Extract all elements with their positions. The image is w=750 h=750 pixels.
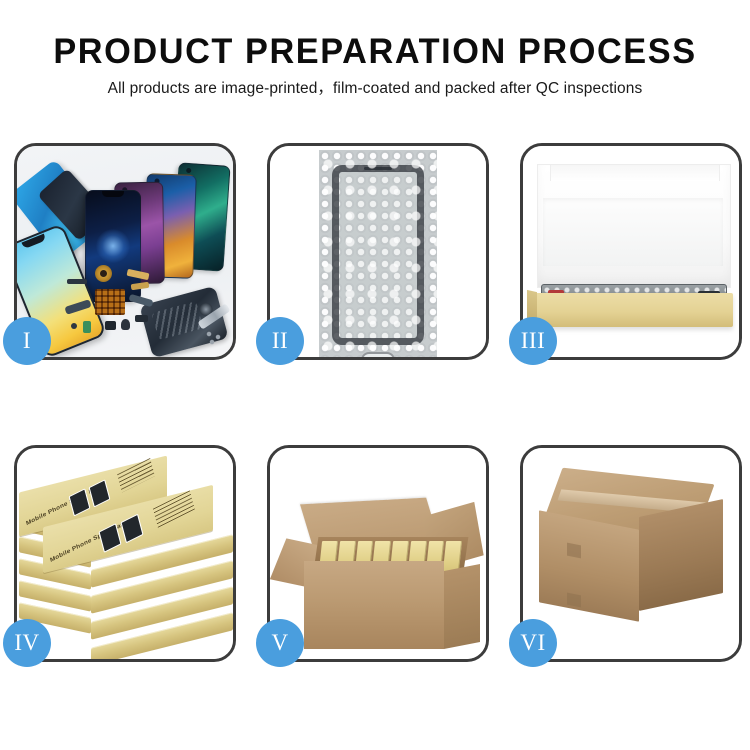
sealed-carton-right-icon — [639, 499, 723, 611]
step-panel-1: I — [14, 143, 236, 360]
screws-icon — [206, 331, 224, 345]
foam-pad-icon — [543, 198, 723, 266]
sealed-carton-front-icon — [539, 510, 639, 621]
step-panel-4: Mobile Phone Spare Parts Mobile Phone Sp… — [14, 445, 236, 662]
box-phone-graphic-4 — [120, 514, 143, 544]
box-stack: Mobile Phone Spare Parts Mobile Phone Sp… — [17, 448, 233, 659]
step-badge-1: I — [3, 317, 51, 365]
process-steps-grid: I II III — [14, 143, 740, 662]
step-badge-5: V — [256, 619, 304, 667]
step-panel-2: II — [267, 143, 489, 360]
step-1-image — [17, 146, 233, 357]
step-3-image — [523, 146, 739, 357]
bubble-wrap-sheet-icon — [319, 150, 437, 357]
box-phone-graphic-2 — [89, 479, 111, 507]
part-coil-icon — [95, 265, 112, 282]
page-subtitle: All products are image-printed，film-coat… — [0, 81, 750, 97]
step-badge-3: III — [509, 317, 557, 365]
step-2-image — [270, 146, 486, 357]
wrapped-screen-icon — [332, 165, 424, 345]
part-block-3-icon — [83, 321, 91, 333]
step-panel-3: III — [520, 143, 742, 360]
step-4-image: Mobile Phone Spare Parts Mobile Phone Sp… — [17, 448, 233, 659]
page-title: PRODUCT PREPARATION PROCESS — [8, 34, 743, 69]
page-header: PRODUCT PREPARATION PROCESS All products… — [0, 0, 750, 97]
step-6-image — [523, 448, 739, 659]
part-block-4-icon — [135, 315, 148, 322]
part-dot-icon — [71, 323, 77, 329]
carton-side-panel-icon — [444, 564, 480, 649]
part-flex-cable-a-icon — [127, 269, 150, 280]
part-block-1-icon — [105, 321, 116, 330]
step-badge-2: II — [256, 317, 304, 365]
part-block-2-icon — [121, 319, 130, 330]
step-badge-6: VI — [509, 619, 557, 667]
part-flex-cable-b-icon — [131, 282, 150, 290]
carton-tab-top-icon — [567, 543, 581, 559]
step-badge-4: IV — [3, 619, 51, 667]
carton-tab-bottom-icon — [567, 593, 581, 608]
box-spec-lines-1 — [117, 458, 155, 493]
step-5-image — [270, 448, 486, 659]
kraft-box-base-icon — [533, 293, 733, 327]
spare-parts-cluster — [65, 263, 169, 341]
step-panel-5: V — [267, 445, 489, 662]
part-strip-icon — [67, 279, 87, 284]
part-connector-grid-icon — [95, 289, 125, 315]
part-cable-a-icon — [64, 299, 91, 315]
carton-front-panel-icon — [304, 561, 444, 649]
part-cable-b-icon — [129, 294, 154, 307]
step-panel-6: VI — [520, 445, 742, 662]
